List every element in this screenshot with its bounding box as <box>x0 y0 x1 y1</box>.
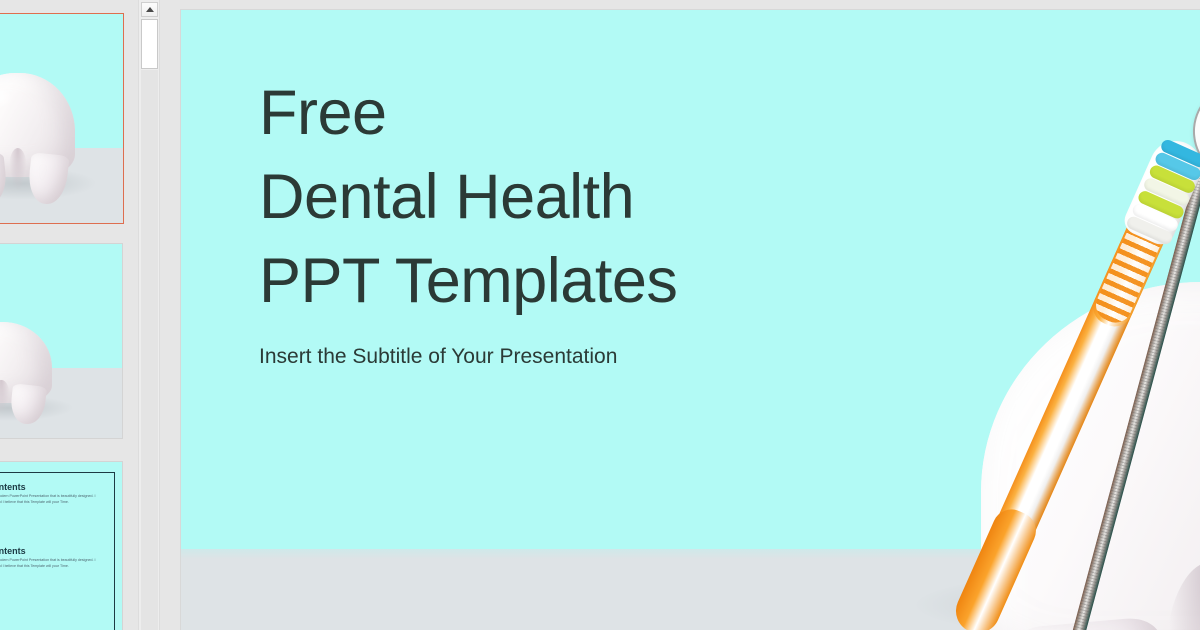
tooth-root-notch <box>1165 562 1200 630</box>
thumbnail-2-canvas <box>0 244 122 438</box>
mini-contents-title: Contents <box>0 483 115 492</box>
current-slide[interactable]: Free Dental Health PPT Templates Insert … <box>181 10 1200 630</box>
slide-title-placeholder[interactable]: Free Dental Health PPT Templates Insert … <box>259 72 819 369</box>
scroll-up-button[interactable] <box>141 2 158 17</box>
slide-editing-stage: Free Dental Health PPT Templates Insert … <box>160 0 1200 630</box>
mini-tooth-gloss <box>0 87 13 108</box>
slide-subtitle: Insert the Subtitle of Your Presentation <box>259 345 819 369</box>
slide-thumbnail-3[interactable]: 02 Contents Get a modern PowerPoint Pres… <box>0 461 123 630</box>
mini-contents-body: Get a modern PowerPoint Presentation tha… <box>0 558 99 569</box>
scrollbar-track[interactable] <box>141 70 158 630</box>
page-title-line-1: Free <box>259 72 819 156</box>
page-title-line-3: PPT Templates <box>259 240 819 324</box>
scrollbar-thumb[interactable] <box>141 19 158 69</box>
page-title-line-2: Dental Health <box>259 156 819 240</box>
thumbnail-3-canvas: 02 Contents Get a modern PowerPoint Pres… <box>0 462 122 630</box>
mini-contents-row: 02 Contents Get a modern PowerPoint Pres… <box>0 483 115 505</box>
triangle-up-icon <box>146 7 154 12</box>
thumbnail-pane-scrollbar[interactable] <box>138 0 160 630</box>
slide-thumbnail-2[interactable] <box>0 243 123 439</box>
mini-contents-title: Contents <box>0 547 115 556</box>
presentation-editor-window: 02 Contents Get a modern PowerPoint Pres… <box>0 0 1200 630</box>
slide-thumbnail-pane[interactable]: 02 Contents Get a modern PowerPoint Pres… <box>0 0 138 630</box>
thumbnail-1-canvas <box>0 14 123 223</box>
mini-contents-row: 04 Contents Get a modern PowerPoint Pres… <box>0 547 115 569</box>
mini-contents-body: Get a modern PowerPoint Presentation tha… <box>0 494 99 505</box>
slide-thumbnail-1[interactable] <box>0 14 123 223</box>
